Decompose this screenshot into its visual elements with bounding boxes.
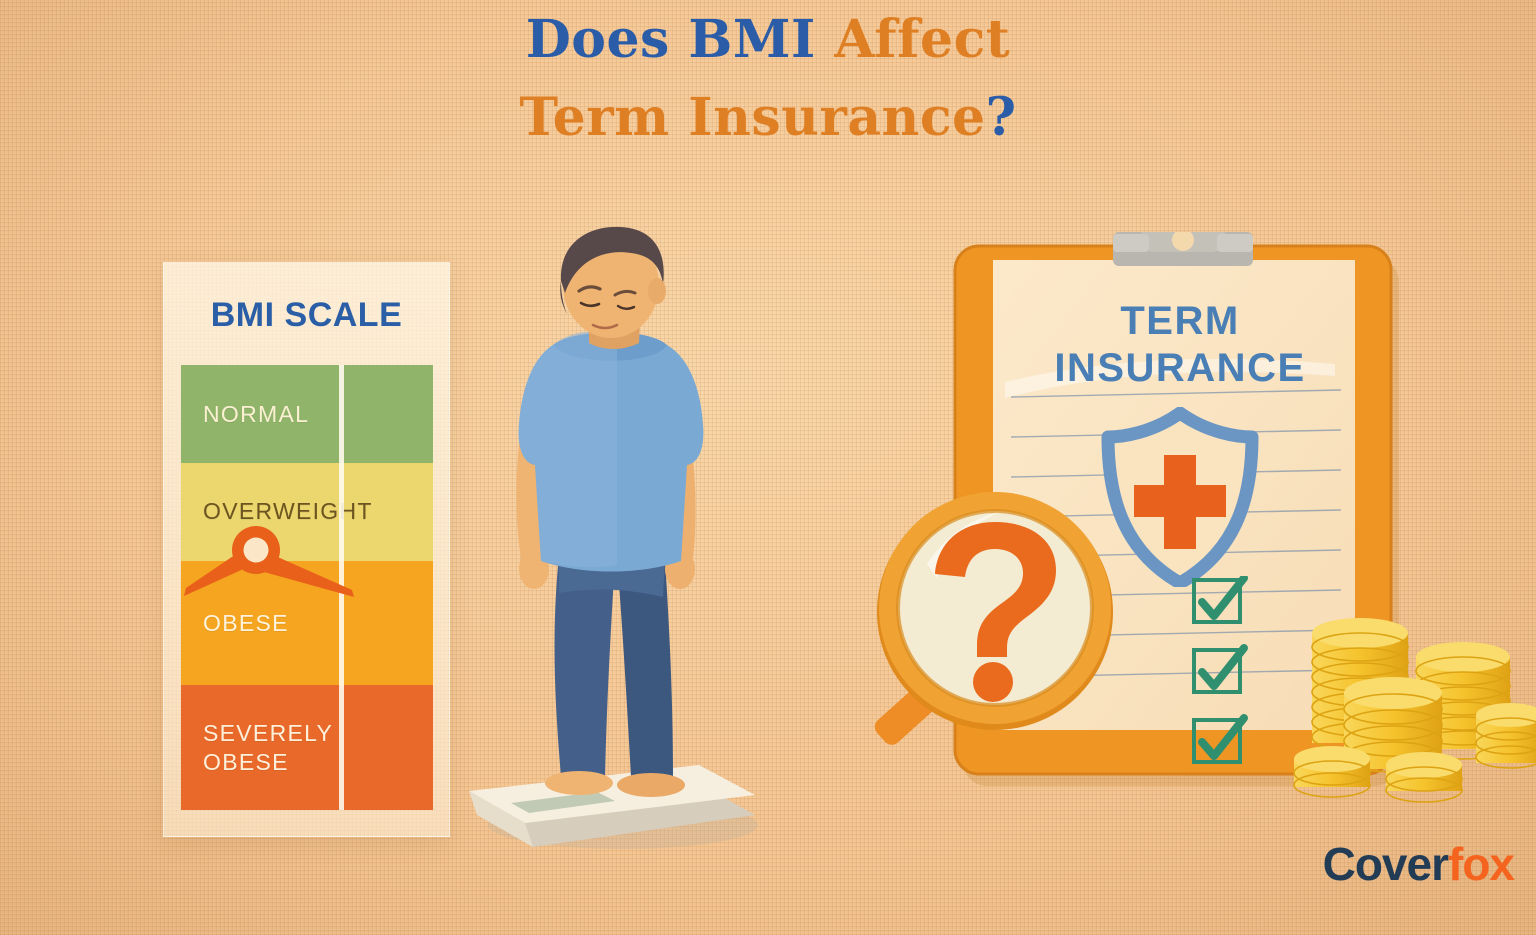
bmi-band-severely-obese: SEVERELYOBESE [181, 685, 433, 810]
title-line-1: Does BMI Affect [0, 14, 1536, 66]
coverfox-logo[interactable]: Coverfox [1323, 837, 1514, 891]
bmi-band-normal: NORMAL [181, 365, 433, 463]
infographic-canvas: Does BMI Affect Term Insurance? BMI SCAL… [0, 0, 1536, 935]
bmi-band-divider [339, 365, 344, 463]
bmi-scale-heading: BMI SCALE [164, 296, 449, 335]
logo-fox-text: fox [1448, 838, 1514, 890]
title-question-mark: ? [986, 87, 1017, 148]
logo-cover-text: Cover [1323, 838, 1448, 890]
bmi-band-label: NORMAL [181, 400, 309, 429]
magnifying-glass-with-question-mark-icon [835, 472, 1125, 782]
title-term-insurance: Term Insurance [519, 87, 985, 148]
checkbox-item [1194, 648, 1244, 692]
checkbox-item [1194, 718, 1244, 762]
bmi-band-overweight: OVERWEIGHT [181, 463, 433, 561]
bmi-scale-bands: NORMALOVERWEIGHTOBESESEVERELYOBESE [181, 365, 433, 810]
bmi-band-label: SEVERELYOBESE [181, 719, 333, 777]
person-on-weighing-scale-illustration [455, 225, 785, 865]
gold-coin-stacks-icon [1290, 607, 1536, 807]
checkbox-list [1188, 576, 1258, 766]
clipboard-heading-line-2: INSURANCE [945, 345, 1415, 392]
clipboard-heading: TERM INSURANCE [945, 298, 1415, 392]
bmi-band-divider [339, 561, 344, 686]
bmi-band-label: OBESE [181, 609, 289, 638]
clipboard-illustration: TERM INSURANCE [945, 232, 1415, 797]
bmi-band-divider [339, 685, 344, 810]
bmi-band-divider [339, 463, 344, 561]
title-line-2: Term Insurance? [0, 92, 1536, 144]
bmi-band-label: OVERWEIGHT [181, 497, 373, 526]
checkbox-item [1194, 578, 1244, 622]
clipboard-heading-line-1: TERM [945, 298, 1415, 345]
title-does-bmi: Does BMI [526, 9, 816, 70]
clipboard-clip-icon [1113, 232, 1253, 266]
title-affect: Affect [834, 9, 1010, 70]
bmi-scale-card: BMI SCALE NORMALOVERWEIGHTOBESESEVERELYO… [163, 262, 450, 837]
bmi-band-obese: OBESE [181, 561, 433, 686]
page-title: Does BMI Affect Term Insurance? [0, 14, 1536, 144]
